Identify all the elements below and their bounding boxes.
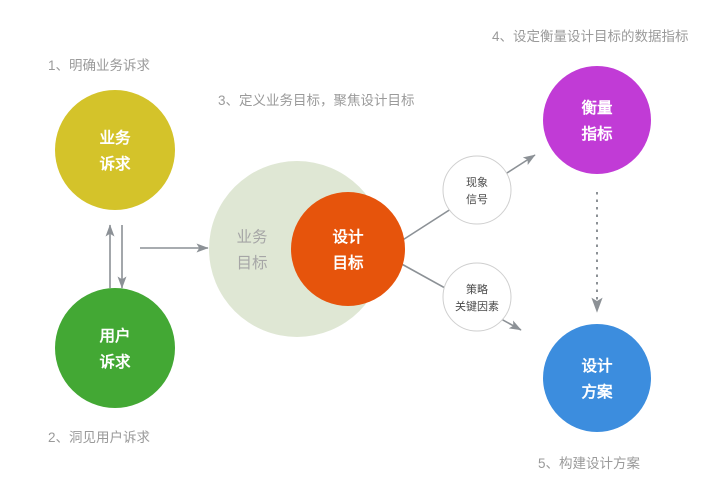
business-goal-circle-label-line-1: 业务 — [236, 228, 267, 246]
design-goal-flow-diagram: 业务诉求用户诉求业务目标设计目标衡量指标设计方案 现象信号策略关键因素 1、明确… — [0, 0, 720, 500]
design-solution-circle-label-line-2: 方案 — [581, 382, 613, 401]
design-solution-circle[interactable]: 设计方案 — [543, 324, 651, 432]
user-need-circle[interactable]: 用户诉求 — [55, 288, 175, 408]
business-need-circle-shape[interactable] — [55, 90, 175, 210]
bubbles-layer: 现象信号策略关键因素 — [443, 156, 511, 331]
caption-3: 3、定义业务目标，聚焦设计目标 — [218, 93, 415, 108]
nodes-layer: 业务诉求用户诉求业务目标设计目标衡量指标设计方案 — [55, 66, 651, 432]
design-solution-circle-label-line-1: 设计 — [581, 356, 613, 375]
signal-bubble[interactable]: 现象信号 — [443, 156, 511, 224]
design-goal-circle-label-line-1: 设计 — [332, 227, 364, 246]
signal-bubble-label-line-2: 信号 — [466, 193, 488, 206]
metric-circle-label-line-1: 衡量 — [581, 98, 613, 117]
strategy-bubble-shape[interactable] — [443, 263, 511, 331]
design-goal-circle-shape[interactable] — [291, 192, 405, 306]
design-goal-circle[interactable]: 设计目标 — [291, 192, 405, 306]
strategy-bubble-label-line-2: 关键因素 — [455, 299, 499, 313]
business-goal-circle-label-line-2: 目标 — [236, 254, 267, 272]
strategy-bubble-label-line-1: 策略 — [466, 282, 488, 296]
metric-circle-label-line-2: 指标 — [581, 124, 613, 143]
caption-5: 5、构建设计方案 — [538, 455, 641, 471]
user-need-circle-label-line-1: 用户 — [99, 326, 130, 345]
metric-circle-shape[interactable] — [543, 66, 651, 174]
business-need-circle-label-line-1: 业务 — [99, 128, 131, 147]
design-goal-circle-label-line-2: 目标 — [332, 254, 364, 272]
metric-circle[interactable]: 衡量指标 — [543, 66, 651, 174]
diagram-canvas: 业务诉求用户诉求业务目标设计目标衡量指标设计方案 现象信号策略关键因素 1、明确… — [0, 0, 720, 500]
business-need-circle-label-line-2: 诉求 — [99, 154, 131, 173]
caption-4: 4、设定衡量设计目标的数据指标 — [492, 29, 689, 44]
user-need-circle-label-line-2: 诉求 — [99, 352, 131, 371]
signal-bubble-label-line-1: 现象 — [466, 176, 488, 189]
caption-2: 2、洞见用户诉求 — [48, 429, 151, 445]
caption-1: 1、明确业务诉求 — [48, 58, 151, 73]
user-need-circle-shape[interactable] — [55, 288, 175, 408]
business-need-circle[interactable]: 业务诉求 — [55, 90, 175, 210]
design-solution-circle-shape[interactable] — [543, 324, 651, 432]
strategy-bubble[interactable]: 策略关键因素 — [443, 263, 511, 331]
signal-bubble-shape[interactable] — [443, 156, 511, 224]
